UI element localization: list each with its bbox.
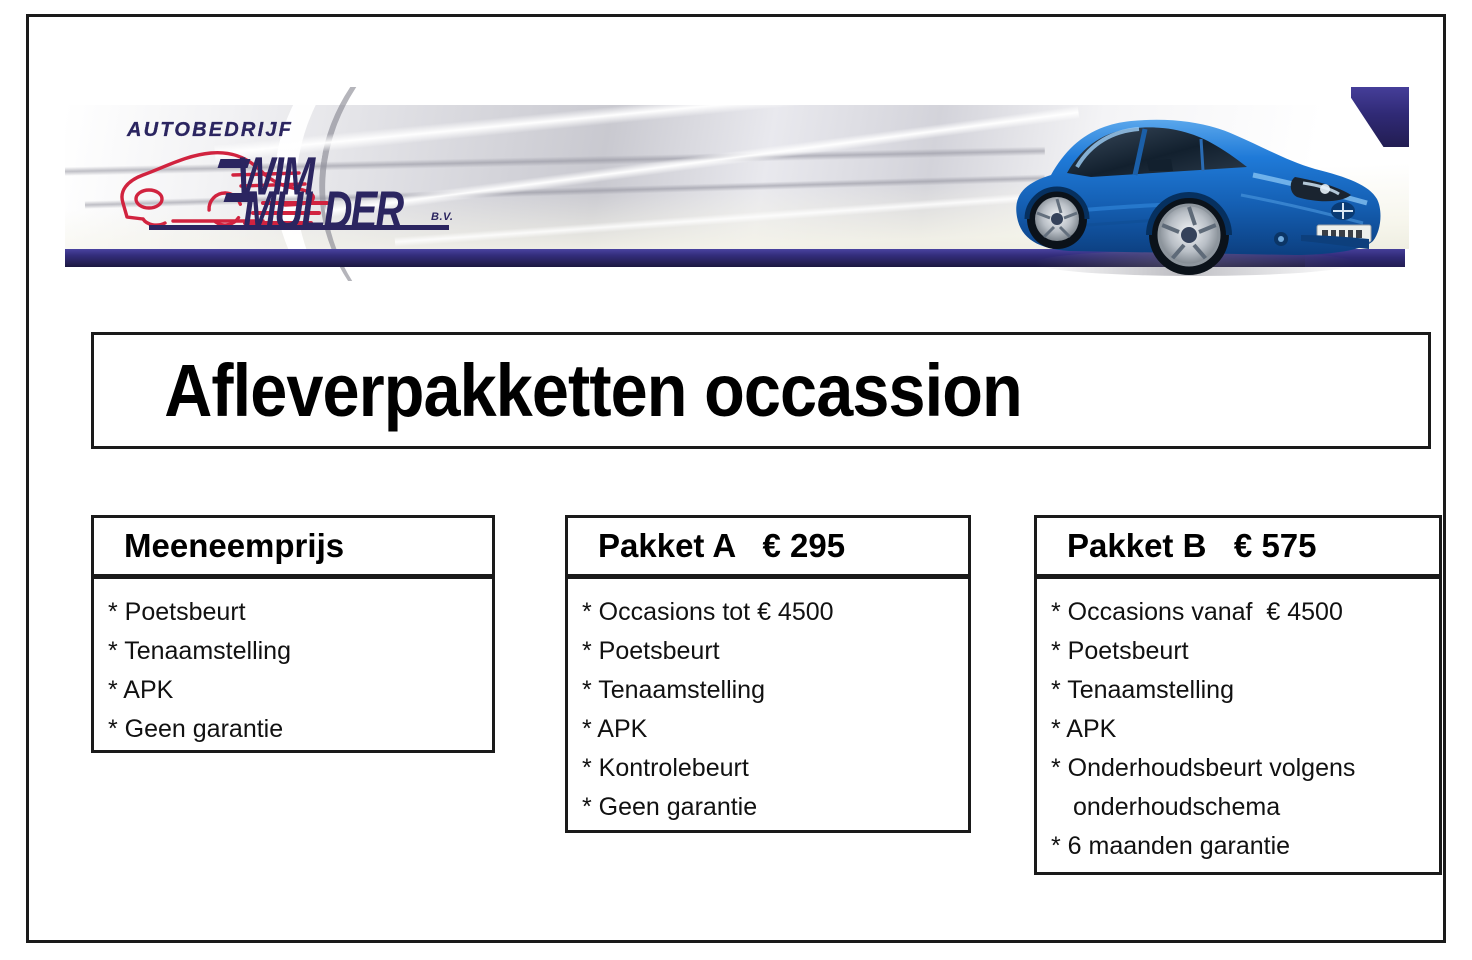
- page-frame: AUTOBEDRIJF WIM MULDER B.V.: [26, 14, 1446, 943]
- package-item: * Tenaamstelling: [1051, 671, 1429, 710]
- page-title: Afleverpakketten occassion: [94, 348, 1022, 433]
- package-item: * Poetsbeurt: [582, 632, 958, 671]
- package-item: * APK: [582, 710, 958, 749]
- logo-bv-text: B.V.: [431, 211, 453, 223]
- package-header-pakket-b: Pakket B € 575: [1034, 515, 1442, 577]
- package-item: * Kontrolebeurt: [582, 749, 958, 788]
- package-item-continuation: onderhoudschema: [1051, 788, 1429, 827]
- package-card-meeneemprijs: Meeneemprijs * Poetsbeurt * Tenaamstelli…: [91, 515, 495, 753]
- package-title: Pakket A € 295: [568, 527, 845, 565]
- package-items-pakket-a: * Occasions tot € 4500 * Poetsbeurt * Te…: [565, 577, 971, 833]
- page-title-box: Afleverpakketten occassion: [91, 332, 1431, 449]
- package-item: * Poetsbeurt: [1051, 632, 1429, 671]
- package-item: * Tenaamstelling: [582, 671, 958, 710]
- package-item: * Occasions tot € 4500: [582, 593, 958, 632]
- package-item: * Geen garantie: [582, 788, 958, 827]
- package-item: * Poetsbeurt: [108, 593, 482, 632]
- package-header-meeneemprijs: Meeneemprijs: [91, 515, 495, 577]
- package-card-pakket-b: Pakket B € 575 * Occasions vanaf € 4500 …: [1034, 515, 1442, 875]
- package-items-meeneemprijs: * Poetsbeurt * Tenaamstelling * APK * Ge…: [91, 577, 495, 753]
- package-item: * Geen garantie: [108, 710, 482, 749]
- logo-underline: [149, 225, 449, 230]
- logo-autobedrijf-text: AUTOBEDRIJF: [127, 119, 293, 142]
- package-header-pakket-a: Pakket A € 295: [565, 515, 971, 577]
- package-items-pakket-b: * Occasions vanaf € 4500 * Poetsbeurt * …: [1034, 577, 1442, 875]
- package-item: * APK: [108, 671, 482, 710]
- company-banner: AUTOBEDRIJF WIM MULDER B.V.: [65, 87, 1409, 281]
- package-item: * Onderhoudsbeurt volgens: [1051, 749, 1429, 788]
- package-title: Meeneemprijs: [94, 527, 344, 565]
- package-item: * Tenaamstelling: [108, 632, 482, 671]
- blue-sports-car-photo: [995, 99, 1395, 279]
- company-logo: AUTOBEDRIJF WIM MULDER B.V.: [113, 119, 473, 239]
- package-item: * APK: [1051, 710, 1429, 749]
- package-card-pakket-a: Pakket A € 295 * Occasions tot € 4500 * …: [565, 515, 971, 833]
- package-title: Pakket B € 575: [1037, 527, 1317, 565]
- logo-mulder-text: MULDER: [243, 181, 402, 242]
- package-item: * Occasions vanaf € 4500: [1051, 593, 1429, 632]
- package-item: * 6 maanden garantie: [1051, 827, 1429, 866]
